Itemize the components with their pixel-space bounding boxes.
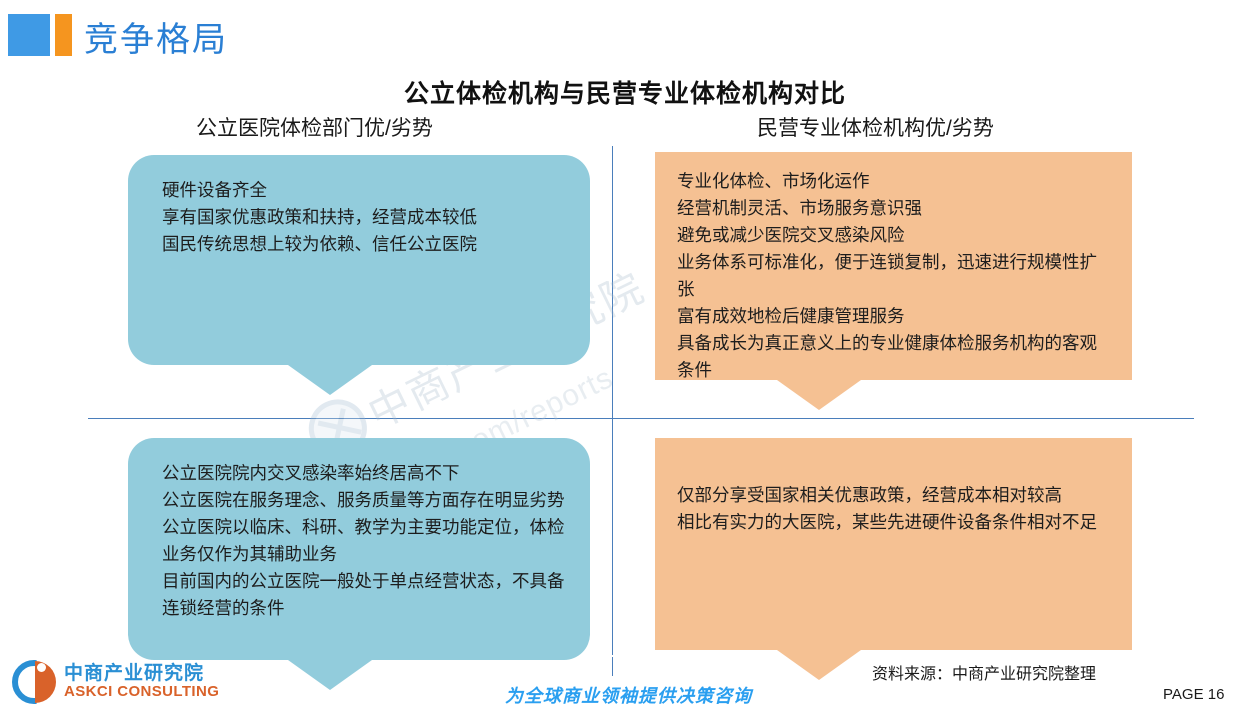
header-orange-bar (55, 14, 72, 56)
callout-tail (777, 380, 861, 410)
column-header-right: 民营专业体检机构优/劣势 (757, 112, 994, 142)
callout-line: 硬件设备齐全 (162, 177, 572, 204)
callout-public-disadvantages: 公立医院院内交叉感染率始终居高不下 公立医院在服务理念、服务质量等方面存在明显劣… (128, 438, 590, 660)
callout-line: 专业化体检、市场化运作 (677, 168, 1114, 195)
source-note: 资料来源：中商产业研究院整理 (872, 660, 1096, 684)
column-header-left: 公立医院体检部门优/劣势 (196, 112, 433, 142)
askci-logo-icon (12, 660, 56, 704)
callout-tail (288, 660, 372, 690)
callout-line: 经营机制灵活、市场服务意识强 (677, 195, 1114, 222)
callout-line: 仅部分享受国家相关优惠政策，经营成本相对较高 (677, 482, 1114, 509)
brand-name-cn: 中商产业研究院 (64, 664, 219, 684)
callout-line: 公立医院在服务理念、服务质量等方面存在明显劣势 (162, 487, 572, 514)
callout-public-advantages: 硬件设备齐全 享有国家优惠政策和扶持，经营成本较低 国民传统思想上较为依赖、信任… (128, 155, 590, 365)
callout-private-advantages-body: 专业化体检、市场化运作 经营机制灵活、市场服务意识强 避免或减少医院交叉感染风险… (655, 152, 1132, 380)
callout-private-disadvantages-body: 仅部分享受国家相关优惠政策，经营成本相对较高 相比有实力的大医院，某些先进硬件设… (655, 438, 1132, 650)
callout-tail (288, 365, 372, 395)
page-title: 公立体检机构与民营专业体检机构对比 (0, 74, 1250, 110)
brand-logo: 中商产业研究院 ASKCI CONSULTING (12, 660, 219, 704)
callout-tail (777, 650, 861, 680)
page-number: PAGE 16 (1163, 686, 1224, 703)
callout-private-disadvantages: 仅部分享受国家相关优惠政策，经营成本相对较高 相比有实力的大医院，某些先进硬件设… (655, 438, 1132, 650)
callout-line: 业务体系可标准化，便于连锁复制，迅速进行规模性扩张 (677, 249, 1114, 303)
callout-line: 富有成效地检后健康管理服务 (677, 303, 1114, 330)
callout-line: 公立医院院内交叉感染率始终居高不下 (162, 460, 572, 487)
brand-name-en: ASKCI CONSULTING (64, 684, 219, 700)
axis-horizontal-divider (88, 418, 1194, 419)
callout-line: 避免或减少医院交叉感染风险 (677, 222, 1114, 249)
callout-line: 国民传统思想上较为依赖、信任公立医院 (162, 231, 572, 258)
header-blue-square (8, 14, 50, 56)
callout-line: 具备成长为真正意义上的专业健康体检服务机构的客观条件 (677, 330, 1114, 384)
footer-tagline: 为全球商业领袖提供决策咨询 (505, 682, 752, 708)
callout-line: 公立医院以临床、科研、教学为主要功能定位，体检业务仅作为其辅助业务 (162, 514, 572, 568)
callout-public-disadvantages-body: 公立医院院内交叉感染率始终居高不下 公立医院在服务理念、服务质量等方面存在明显劣… (128, 438, 590, 660)
slide-canvas: 竞争格局 公立体检机构与民营专业体检机构对比 公立医院体检部门优/劣势 民营专业… (0, 0, 1250, 718)
callout-public-advantages-body: 硬件设备齐全 享有国家优惠政策和扶持，经营成本较低 国民传统思想上较为依赖、信任… (128, 155, 590, 365)
callout-private-advantages: 专业化体检、市场化运作 经营机制灵活、市场服务意识强 避免或减少医院交叉感染风险… (655, 152, 1132, 380)
callout-line: 相比有实力的大医院，某些先进硬件设备条件相对不足 (677, 509, 1114, 536)
axis-vertical-divider (612, 146, 613, 676)
brand-logo-text: 中商产业研究院 ASKCI CONSULTING (64, 664, 219, 700)
callout-line: 享有国家优惠政策和扶持，经营成本较低 (162, 204, 572, 231)
logo-dot-shape (37, 663, 46, 672)
callout-line: 目前国内的公立医院一般处于单点经营状态，不具备连锁经营的条件 (162, 568, 572, 622)
section-title: 竞争格局 (84, 12, 228, 61)
